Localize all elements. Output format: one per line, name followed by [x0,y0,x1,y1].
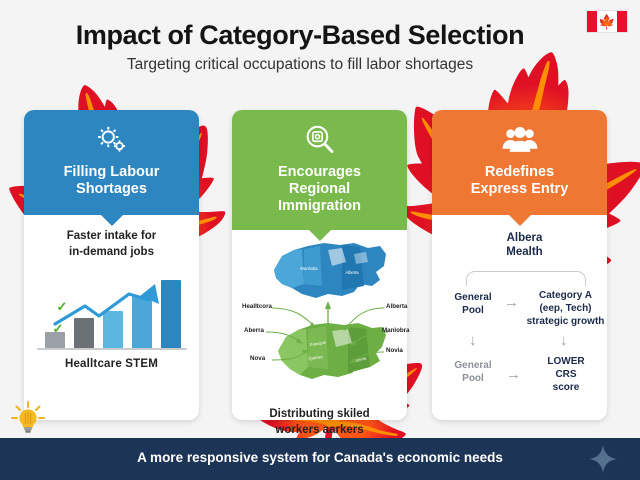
flow-node-line: General [454,292,491,303]
card-title-line: Encourages [278,164,361,180]
card-body: Faster intake for in-demand jobs ✓ ✓ Hea… [24,215,199,380]
page-subtitle: Targeting critical occupations to fill l… [0,56,600,74]
chart-label: Healltcare STEM [34,358,189,370]
card-encourages-regional-immigration[interactable]: Encourages Regional Immigration Manitoba [232,110,407,420]
map-callout-label-right: Alberta [386,303,407,310]
flow-arrow-right-2: → [506,367,521,382]
flow-node-line: score [553,382,580,393]
flow-node-general-pool-1: General Pool [444,291,502,317]
flag-band-left [587,11,597,32]
lightbulb-icon [8,398,48,438]
map-callout-label-right: Novia [386,347,403,354]
upward-trend-arrow-icon [37,278,187,350]
card-body: Manitoba Alberta Principal Quebec Albert… [232,230,407,464]
card-body: Albera Mealth General Pool → Category A … [432,215,607,434]
card-header: Redefines Express Entry [432,110,607,215]
flow-node-line: CRS [555,369,576,380]
card-notch-pointer [100,214,124,226]
map-callout-label-left: Healltcora [242,303,272,310]
page-footer: A more responsive system for Canada's ec… [0,438,640,480]
card-title-line: Redefines [485,164,554,180]
canada-maps-diagram: Manitoba Alberta Principal Quebec Albert… [242,240,412,405]
flow-node-general-pool-2: General Pool [444,359,502,385]
card-header: Filling Labour Shortages [24,110,199,215]
map-callout-label-left: Aberra [244,327,264,334]
card-title: Redefines Express Entry [440,164,599,198]
flow-node-line: strategic growth [527,316,605,327]
card-title-line: Shortages [76,181,147,197]
card-title-line: Filling Labour [64,164,160,180]
flow-top-line: Albera [507,232,543,244]
card-title-line: Regional [289,181,350,197]
card-lead-text: Faster intake for in-demand jobs [34,229,189,260]
growth-bar-chart: ✓ ✓ [37,278,187,350]
flow-arrow-down-right: ↓ [560,333,568,348]
sparkle-icon [588,444,618,480]
flow-node-lower-crs: LOWER CRS score [534,355,598,394]
flow-node-line: LOWER [547,356,584,367]
flow-node-line: Category A [539,290,592,301]
magnifier-gear-icon [240,122,399,158]
card-title: Encourages Regional Immigration [240,164,399,215]
card-redefines-express-entry[interactable]: Redefines Express Entry Albera Mealth Ge… [432,110,607,420]
footer-text: A more responsive system for Canada's ec… [0,450,640,465]
card-header: Encourages Regional Immigration [232,110,407,230]
card-title: Filling Labour Shortages [32,164,191,198]
flow-node-line: (eep, Tech) [539,303,591,314]
flag-band-center: 🍁 [597,11,617,32]
maple-leaf-icon: 🍁 [598,14,615,28]
map-callout-arrows [242,240,412,405]
flow-top-label: Albera Mealth [442,231,607,260]
page-title: Impact of Category-Based Selection [0,20,600,51]
express-entry-flow-diagram: Albera Mealth General Pool → Category A … [442,229,607,424]
page-header: Impact of Category-Based Selection Targe… [0,0,640,92]
card-title-line: Express Entry [471,181,569,197]
card-lead-line: in-demand jobs [69,246,154,258]
card-caption-line: workers aarkers [275,424,363,436]
flow-node-line: General [454,360,491,371]
infographic-canvas: 🍁 🍁 🍁 Impact of Category-Based Selection… [0,0,640,480]
people-group-icon [440,122,599,158]
flag-band-right [617,11,627,32]
card-lead-line: Faster intake for [67,230,156,242]
map-callout-label-left: Nova [250,355,265,362]
card-notch-pointer [508,214,532,226]
flow-arrow-down-left: ↓ [469,333,477,348]
gears-icon [32,122,191,158]
flow-arrow-right: → [504,295,519,310]
chart-baseline [37,348,187,350]
card-filling-labour-shortages[interactable]: Filling Labour Shortages Faster intake f… [24,110,199,420]
flow-brace [466,271,586,286]
canada-flag-icon: 🍁 [586,10,628,33]
flow-node-line: Pool [462,373,484,384]
map-callout-label-right: Manlobra [382,327,410,334]
flow-node-category-a: Category A (eep, Tech) strategic growth [524,289,607,328]
card-caption-line: Distributing skiled [269,408,369,420]
flow-node-line: Pool [462,305,484,316]
flow-top-line: Mealth [506,246,542,258]
card-title-line: Immigration [278,198,361,214]
